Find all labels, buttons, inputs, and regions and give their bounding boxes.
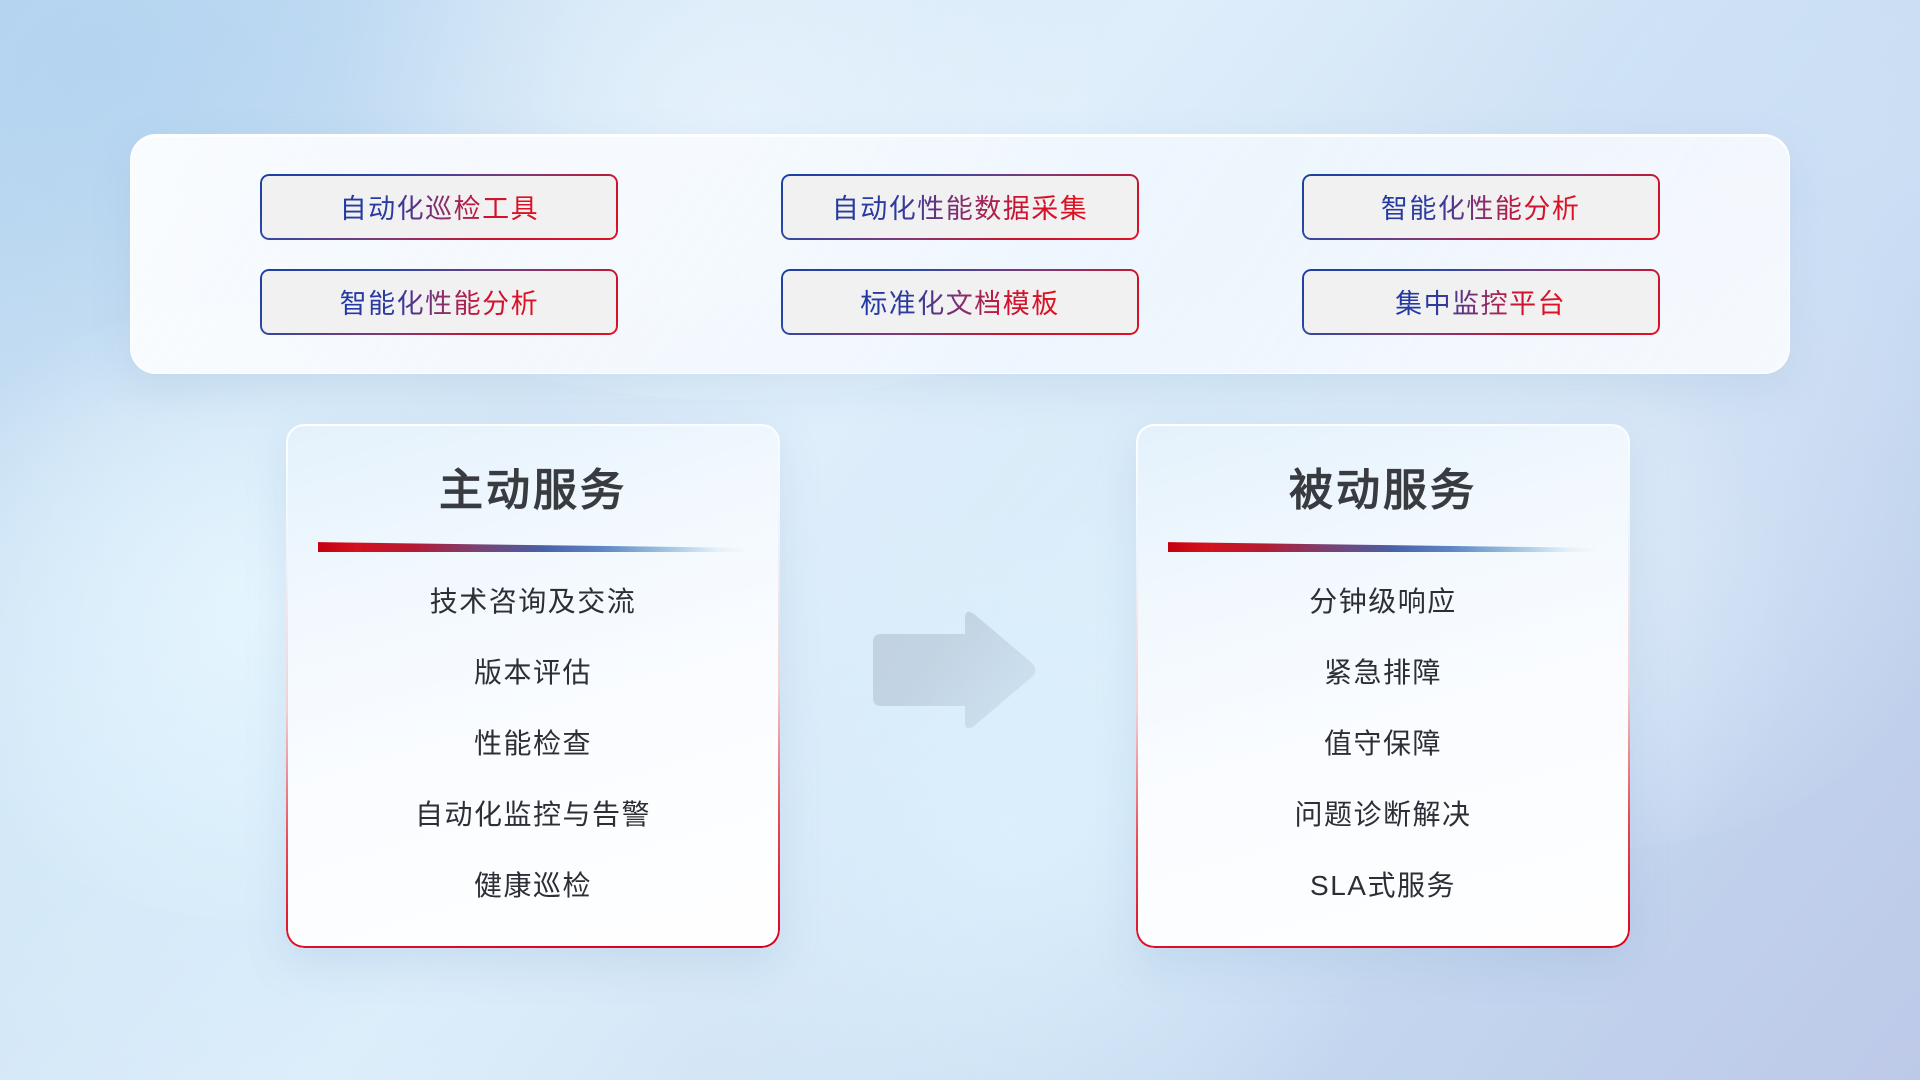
active-service-title: 主动服务 xyxy=(286,454,780,518)
list-item: 技术咨询及交流 xyxy=(286,588,780,616)
capability-tag-1[interactable]: 自动化巡检工具 xyxy=(260,174,618,240)
capability-tag-2[interactable]: 自动化性能数据采集 xyxy=(781,174,1139,240)
list-item: 自动化监控与告警 xyxy=(286,801,780,829)
capability-tag-3[interactable]: 智能化性能分析 xyxy=(1302,174,1660,240)
list-item: SLA式服务 xyxy=(1136,872,1630,900)
list-item: 版本评估 xyxy=(286,659,780,687)
capability-tag-5[interactable]: 标准化文档模板 xyxy=(781,269,1139,335)
active-service-card[interactable]: 主动服务 技术咨询及交流 版本评估 性能检查 自动化监控与告警 健康巡检 xyxy=(286,424,780,948)
list-item: 值守保障 xyxy=(1136,730,1630,758)
list-item: 分钟级响应 xyxy=(1136,588,1630,616)
list-item: 紧急排障 xyxy=(1136,659,1630,687)
capability-tag-label: 智能化性能分析 xyxy=(1381,187,1581,226)
capability-tag-4[interactable]: 智能化性能分析 xyxy=(260,269,618,335)
passive-service-title: 被动服务 xyxy=(1136,454,1630,518)
title-divider-rule xyxy=(1168,540,1598,552)
divider-gradient-shape xyxy=(318,540,748,552)
capability-tag-label: 自动化巡检工具 xyxy=(340,187,540,226)
passive-service-card[interactable]: 被动服务 分钟级响应 紧急排障 值守保障 问题诊断解决 SLA式服务 xyxy=(1136,424,1630,948)
capability-tag-panel: 自动化巡检工具 自动化性能数据采集 智能化性能分析 智能化性能分析 标准化文档模… xyxy=(130,134,1790,374)
capability-tag-label: 智能化性能分析 xyxy=(340,282,540,321)
capability-tag-label: 自动化性能数据采集 xyxy=(832,187,1089,226)
capability-tag-label: 集中监控平台 xyxy=(1395,282,1566,321)
list-item: 健康巡检 xyxy=(286,872,780,900)
list-item: 问题诊断解决 xyxy=(1136,801,1630,829)
right-arrow-icon xyxy=(869,608,1037,734)
slide-canvas: 自动化巡检工具 自动化性能数据采集 智能化性能分析 智能化性能分析 标准化文档模… xyxy=(0,0,1920,1080)
passive-service-list: 分钟级响应 紧急排障 值守保障 问题诊断解决 SLA式服务 xyxy=(1136,588,1630,900)
capability-tag-label: 标准化文档模板 xyxy=(860,282,1060,321)
capability-tag-6[interactable]: 集中监控平台 xyxy=(1302,269,1660,335)
divider-gradient-shape xyxy=(1168,540,1598,552)
active-service-list: 技术咨询及交流 版本评估 性能检查 自动化监控与告警 健康巡检 xyxy=(286,588,780,900)
list-item: 性能检查 xyxy=(286,730,780,758)
title-divider-rule xyxy=(318,540,748,552)
